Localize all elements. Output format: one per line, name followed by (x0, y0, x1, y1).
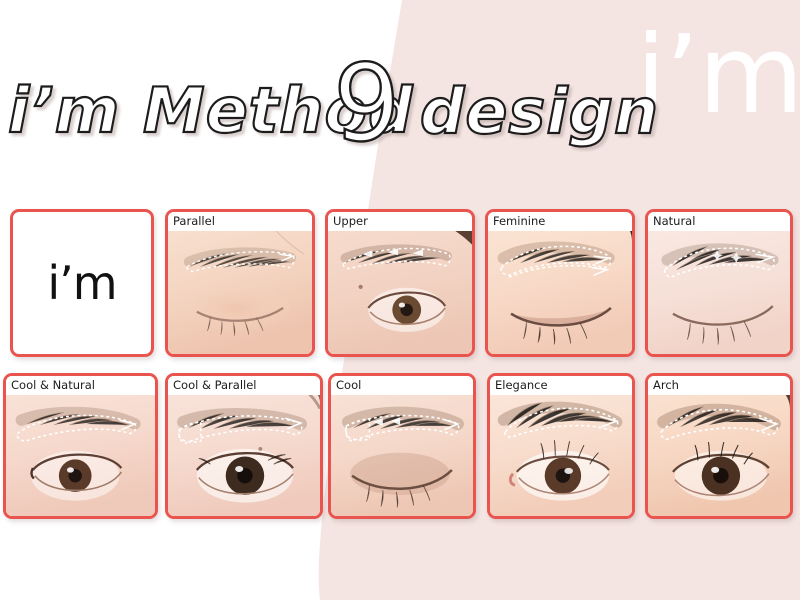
design-card-cool-parallel[interactable]: Cool & Parallel (165, 373, 323, 519)
design-card-natural[interactable]: Natural (645, 209, 793, 357)
design-card-cool[interactable]: Cool (328, 373, 476, 519)
card-label-bar: Natural (648, 212, 790, 231)
headline: i’m Method 9 design (0, 0, 800, 190)
card-label-bar: Cool & Natural (6, 376, 155, 395)
brand-logo-text: i’m (47, 260, 116, 306)
poster-canvas: i’m i’m Method 9 design i’m (0, 0, 800, 600)
design-card-upper[interactable]: Upper (325, 209, 475, 357)
design-card-parallel[interactable]: Parallel (165, 209, 315, 357)
card-label-bar: Arch (648, 376, 790, 395)
card-label-bar: Elegance (490, 376, 632, 395)
eyebrow-photo-parallel (168, 212, 312, 354)
eyebrow-photo-elegance (490, 376, 632, 516)
card-label-bar: Feminine (488, 212, 632, 231)
card-label-text: Feminine (493, 216, 545, 228)
card-label-text: Parallel (173, 216, 215, 228)
design-card-cool-natural[interactable]: Cool & Natural (3, 373, 158, 519)
card-label-text: Cool & Natural (11, 380, 95, 392)
eyebrow-photo-cool (331, 376, 473, 516)
card-label-bar: Upper (328, 212, 472, 231)
card-label-text: Cool & Parallel (173, 380, 256, 392)
eyebrow-photo-natural (648, 212, 790, 354)
card-label-text: Elegance (495, 380, 548, 392)
card-label-text: Natural (653, 216, 695, 228)
card-label-bar: Cool (331, 376, 473, 395)
design-card-feminine[interactable]: Feminine (485, 209, 635, 357)
card-label-bar: Parallel (168, 212, 312, 231)
card-label-text: Arch (653, 380, 679, 392)
eyebrow-photo-cool-natural (6, 376, 155, 516)
headline-number: 9 (333, 42, 400, 165)
card-label-text: Cool (336, 380, 361, 392)
card-label-text: Upper (333, 216, 368, 228)
design-card-elegance[interactable]: Elegance (487, 373, 635, 519)
eyebrow-photo-feminine (488, 212, 632, 354)
design-card-logo[interactable]: i’m (10, 209, 154, 357)
card-label-bar: Cool & Parallel (168, 376, 320, 395)
eyebrow-photo-cool-parallel (168, 376, 320, 516)
eyebrow-photo-arch (648, 376, 790, 516)
headline-trail: design (420, 75, 659, 148)
design-card-arch[interactable]: Arch (645, 373, 793, 519)
eyebrow-photo-upper (328, 212, 472, 354)
